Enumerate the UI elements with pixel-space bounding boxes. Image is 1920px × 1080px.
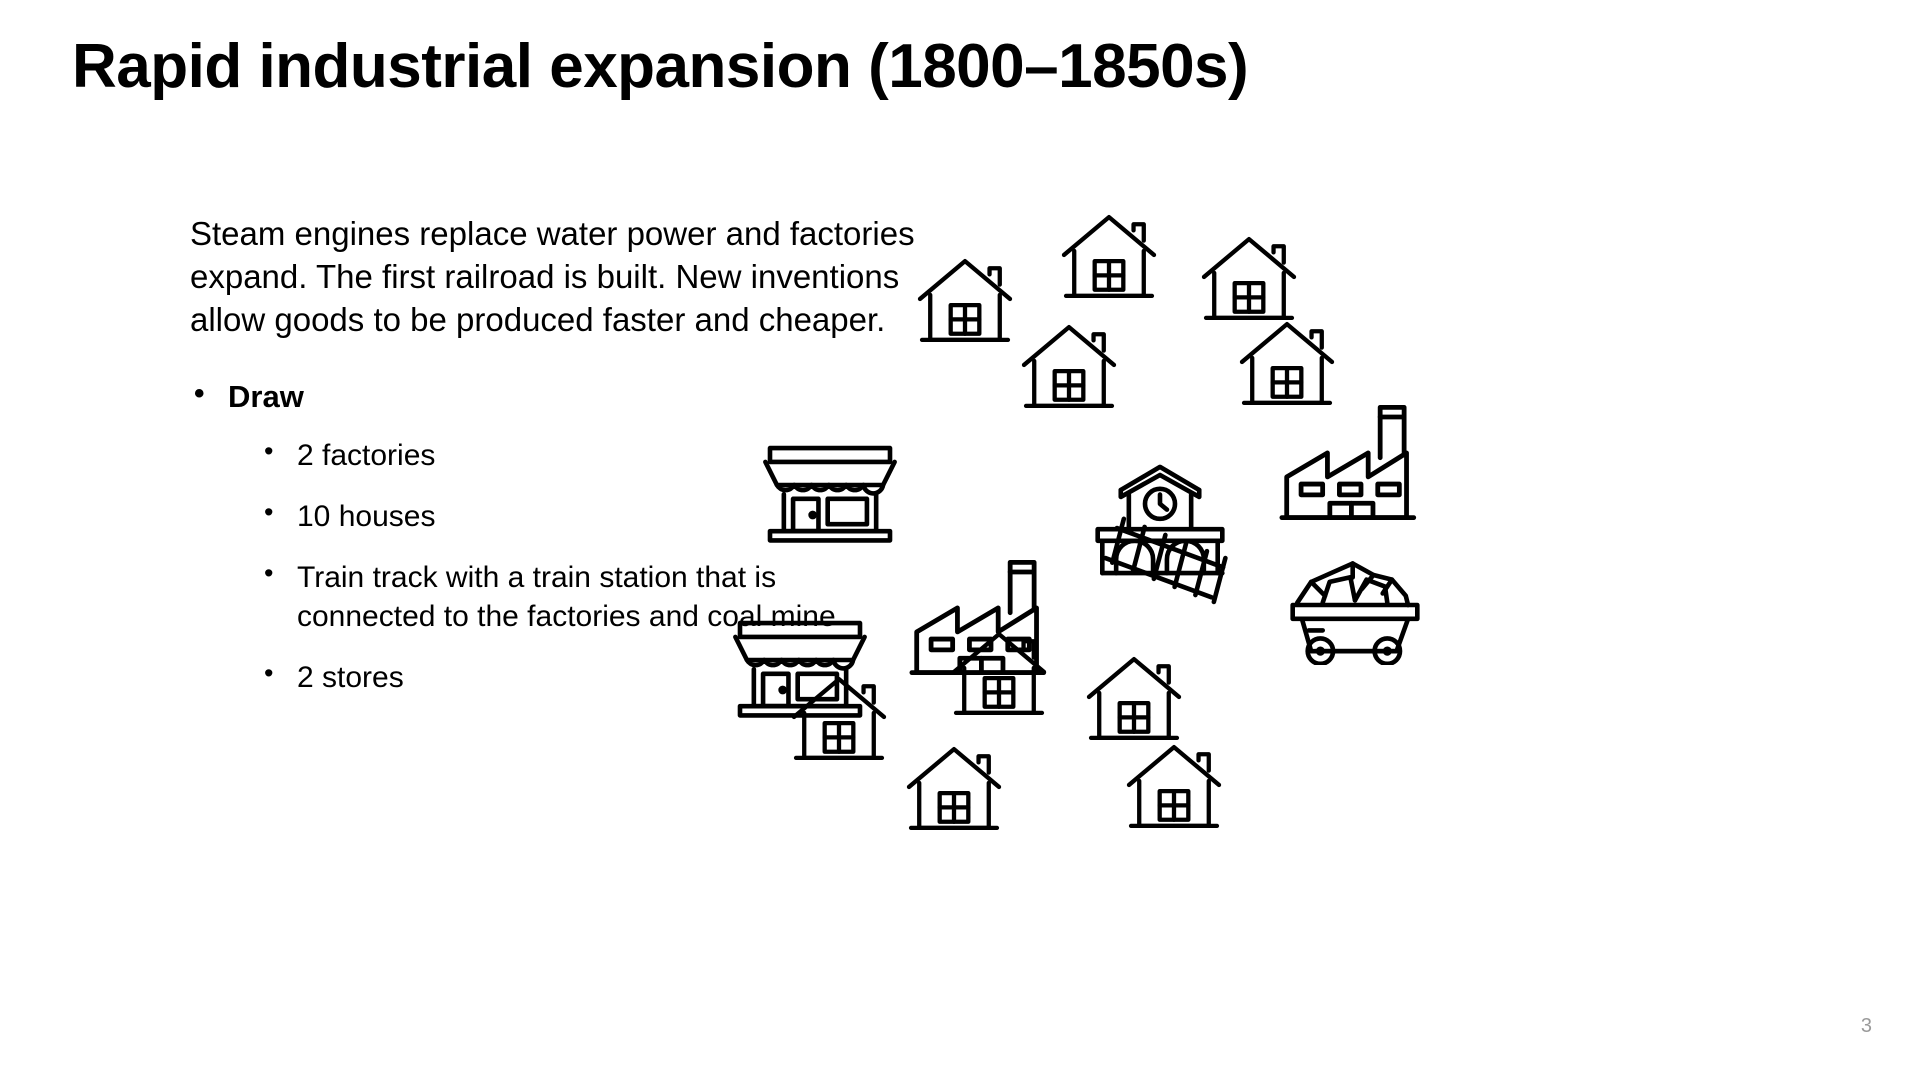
house-icon [906,242,1024,360]
page-title: Rapid industrial expansion (1800–1850s) [72,32,1572,101]
illustration-canvas [900,150,1920,1040]
factory-icon [1275,395,1435,530]
body-paragraph: Steam engines replace water power and fa… [190,212,970,342]
house-icon [940,615,1058,733]
house-icon [1115,728,1233,846]
house-icon [895,730,1013,848]
railroad-track-icon [1090,505,1250,625]
house-icon [1050,198,1168,316]
store-icon [760,425,900,545]
page-number: 3 [1861,1015,1872,1038]
coal-cart-icon [1285,545,1425,665]
house-icon [1010,308,1128,426]
house-icon [780,660,898,778]
slide: Rapid industrial expansion (1800–1850s) … [0,0,1920,1080]
bullet-heading-draw: Draw [190,376,980,418]
